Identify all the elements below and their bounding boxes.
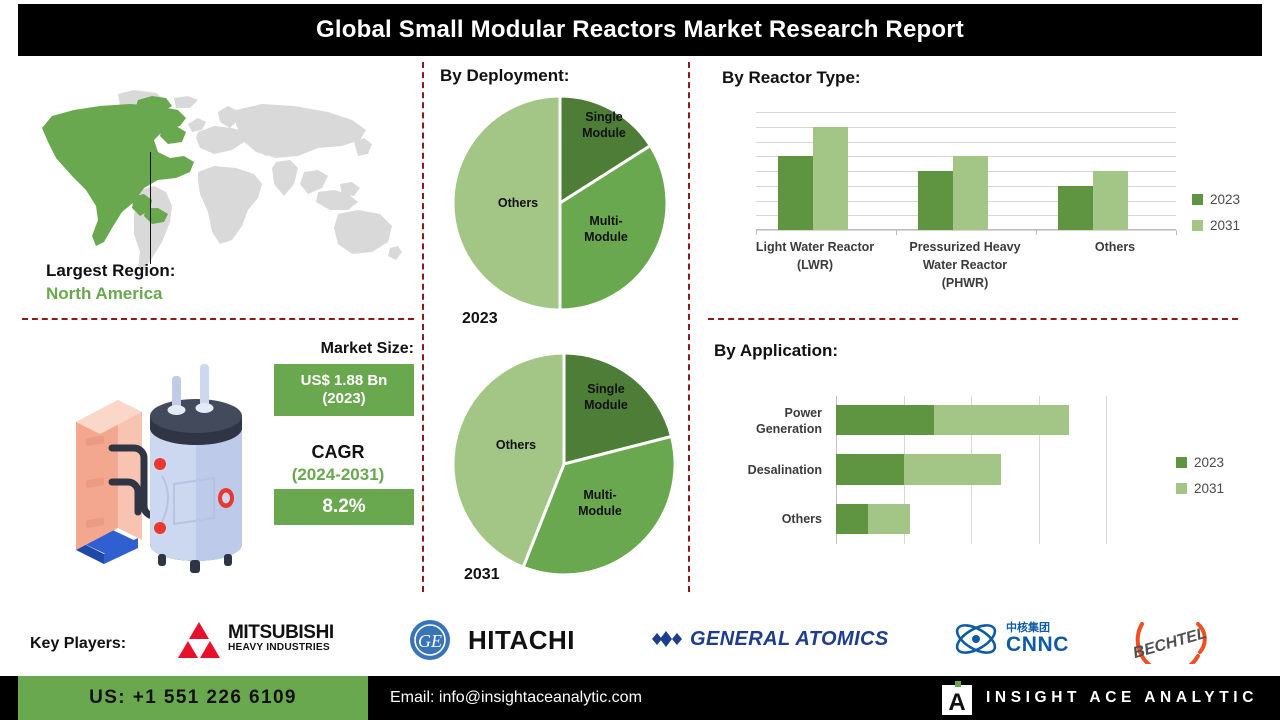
legend-label: 2031 (1194, 481, 1224, 496)
application-category-labels: PowerGenerationDesalinationOthers (700, 396, 830, 544)
pie-slice (453, 96, 560, 310)
deployment-pie-2023 (452, 95, 668, 311)
reactor-type-heading: By Reactor Type: (722, 68, 861, 88)
legend-item: 2023 (1192, 192, 1240, 207)
ge-mark-icon: GE (408, 618, 452, 662)
legend-swatch (1176, 483, 1187, 494)
bar-segment-2031 (904, 454, 1002, 485)
reactor-type-category-labels: Light Water Reactor(LWR)Pressurized Heav… (740, 238, 1190, 292)
largest-region-value: North America (46, 284, 306, 304)
market-size-value: US$ 1.88 Bn (301, 372, 388, 390)
market-size-year: (2023) (322, 390, 365, 408)
footer-brand: A INSIGHT ACE ANALYTIC (942, 676, 1258, 720)
category-label: Light Water Reactor(LWR) (740, 238, 890, 292)
bar-2031 (813, 127, 848, 230)
logo-mitsubishi: MITSUBISHI HEAVY INDUSTRIES (178, 618, 334, 658)
stacked-bar-row (836, 405, 1106, 436)
bar-segment-2023 (836, 454, 904, 485)
bar-segment-2031 (934, 405, 1069, 436)
hitachi-name: HITACHI (468, 625, 575, 656)
legend-item: 2031 (1192, 218, 1240, 233)
map-leader-line (150, 152, 151, 264)
general-atomics-name: GENERAL ATOMICS (690, 628, 889, 651)
deployment-pie-2031 (452, 352, 676, 576)
legend-swatch (1176, 457, 1187, 468)
bar-2031 (1093, 171, 1128, 230)
category-label: Desalination (748, 462, 822, 478)
application-legend: 20232031 (1176, 455, 1224, 507)
legend-label: 2031 (1210, 218, 1240, 233)
logo-general-atomics: GENERAL ATOMICS (652, 624, 889, 654)
bar-segment-2023 (836, 405, 934, 436)
cagr-value-box: 8.2% (274, 489, 414, 525)
cagr-years: (2024-2031) (262, 465, 414, 485)
axis-tick (896, 230, 897, 235)
deployment-heading: By Deployment: (440, 66, 569, 86)
divider-horizontal-left (22, 318, 414, 320)
bechtel-mark-icon: BECHTEL (1128, 616, 1212, 664)
mitsubishi-sub: HEAVY INDUSTRIES (228, 643, 334, 654)
insight-ace-logo-icon: A (942, 681, 972, 715)
cagr-value: 8.2% (322, 496, 365, 518)
svg-text:A: A (948, 689, 965, 715)
legend-swatch (1192, 220, 1203, 231)
category-label: Others (782, 511, 822, 527)
axis-tick (756, 230, 757, 235)
legend-label: 2023 (1194, 455, 1224, 470)
bar-segment-2023 (836, 504, 868, 535)
reactor-type-chart (756, 112, 1176, 230)
category-label: Pressurized HeavyWater Reactor(PHWR) (890, 238, 1040, 292)
bar-2023 (918, 171, 953, 230)
axis-tick (1176, 230, 1177, 235)
bar-segment-2031 (868, 504, 911, 535)
bar-2023 (1058, 186, 1093, 230)
stacked-bar-row (836, 504, 1106, 535)
footer-email[interactable]: Email: info@insightaceanalytic.com (390, 676, 642, 720)
largest-region-block: Largest Region: North America (46, 261, 306, 304)
water-heater-illustration (62, 358, 272, 583)
cnnc-name: CNNC (1006, 634, 1069, 655)
bar-2023 (778, 156, 813, 230)
infographic-root: Global Small Modular Reactors Market Res… (0, 0, 1280, 720)
mitsubishi-mark-icon (178, 618, 220, 658)
market-size-block: Market Size: US$ 1.88 Bn (2023) CAGR (20… (262, 340, 414, 525)
cnnc-atom-icon (952, 616, 1002, 662)
reactor-type-legend: 20232031 (1192, 192, 1240, 244)
deployment-pie-2023-year: 2023 (462, 310, 498, 328)
general-atomics-mark-icon (652, 624, 684, 654)
svg-text:GE: GE (418, 631, 442, 651)
market-size-value-box: US$ 1.88 Bn (2023) (274, 364, 414, 416)
bar-2031 (953, 156, 988, 230)
page-title: Global Small Modular Reactors Market Res… (316, 16, 964, 44)
divider-vertical-right (688, 62, 690, 592)
divider-horizontal-right (708, 318, 1238, 320)
logo-ge-hitachi: GE HITACHI (408, 618, 575, 662)
category-label: Others (1040, 238, 1190, 292)
world-map (22, 88, 414, 278)
application-heading: By Application: (714, 341, 838, 361)
logo-cnnc: 中核集团 CNNC (952, 616, 1069, 662)
logo-bechtel: BECHTEL (1128, 616, 1212, 664)
legend-item: 2031 (1176, 481, 1224, 496)
gridline (756, 112, 1176, 113)
legend-label: 2023 (1210, 192, 1240, 207)
page-title-bar: Global Small Modular Reactors Market Res… (18, 4, 1262, 56)
market-size-title: Market Size: (262, 340, 414, 358)
key-players-label: Key Players: (30, 635, 126, 653)
north-america-highlight (42, 96, 194, 246)
cagr-title: CAGR (262, 442, 414, 463)
footer-brand-name: INSIGHT ACE ANALYTIC (986, 689, 1258, 707)
divider-vertical-left (422, 62, 424, 592)
axis-tick (1036, 230, 1037, 235)
gridline (756, 230, 1176, 231)
mitsubishi-name: MITSUBISHI (228, 623, 334, 643)
legend-swatch (1192, 194, 1203, 205)
footer-phone[interactable]: US: +1 551 226 6109 (18, 676, 368, 720)
application-chart (836, 396, 1106, 544)
legend-item: 2023 (1176, 455, 1224, 470)
stacked-bar-row (836, 454, 1106, 485)
largest-region-label: Largest Region: (46, 261, 306, 281)
category-label: PowerGeneration (756, 405, 822, 438)
gridline (1106, 396, 1107, 544)
deployment-pie-2031-year: 2031 (464, 566, 500, 584)
